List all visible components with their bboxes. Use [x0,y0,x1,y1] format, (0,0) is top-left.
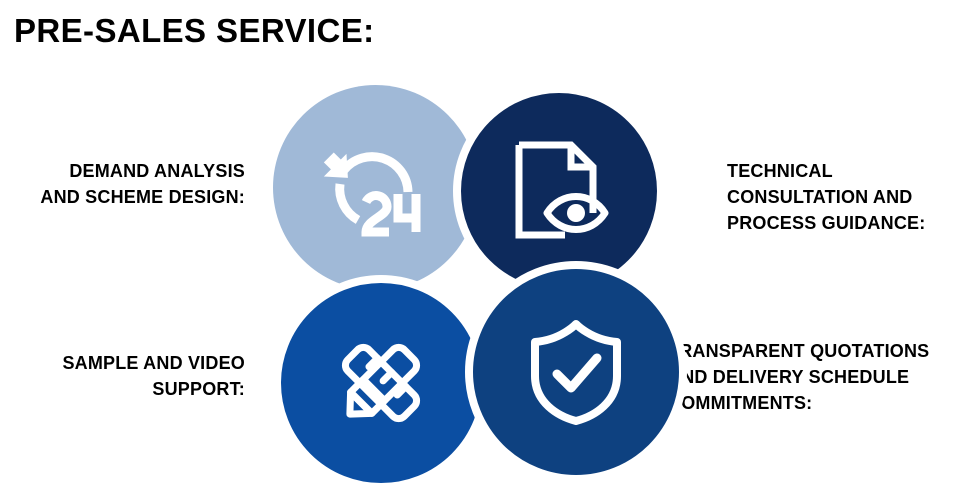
pencil-ruler-crossed-icon [325,328,437,438]
label-line: PROCESS GUIDANCE: [727,210,955,236]
document-eye-review-icon [509,139,609,243]
label-line: TECHNICAL [727,158,955,184]
circle-demand-analysis[interactable] [273,85,478,290]
label-transparent-quotations: TRANSPARENT QUOTATIONS AND DELIVERY SCHE… [668,338,960,416]
label-technical-consultation: TECHNICAL CONSULTATION AND PROCESS GUIDA… [727,158,955,236]
label-line: COMMITMENTS: [668,390,960,416]
circle-transparent-quotations[interactable] [465,261,687,483]
label-demand-analysis: DEMAND ANALYSIS AND SCHEME DESIGN: [0,158,245,210]
label-line: AND SCHEME DESIGN: [0,184,245,210]
label-line: AND DELIVERY SCHEDULE [668,364,960,390]
label-line: CONSULTATION AND [727,184,955,210]
circle-sample-video-support[interactable] [273,275,489,491]
page-title: PRE-SALES SERVICE: [14,11,375,51]
label-line: TRANSPARENT QUOTATIONS [668,338,960,364]
label-line: SUPPORT: [0,376,245,402]
infographic-canvas: PRE-SALES SERVICE: DEMAND ANALYSIS AND S… [0,0,960,498]
label-sample-video-support: SAMPLE AND VIDEO SUPPORT: [0,350,245,402]
label-line: DEMAND ANALYSIS [0,158,245,184]
circle-cluster [273,85,665,483]
shield-check-icon [527,318,625,426]
label-line: SAMPLE AND VIDEO [0,350,245,376]
24-hour-rotate-arrow-icon [320,136,432,240]
